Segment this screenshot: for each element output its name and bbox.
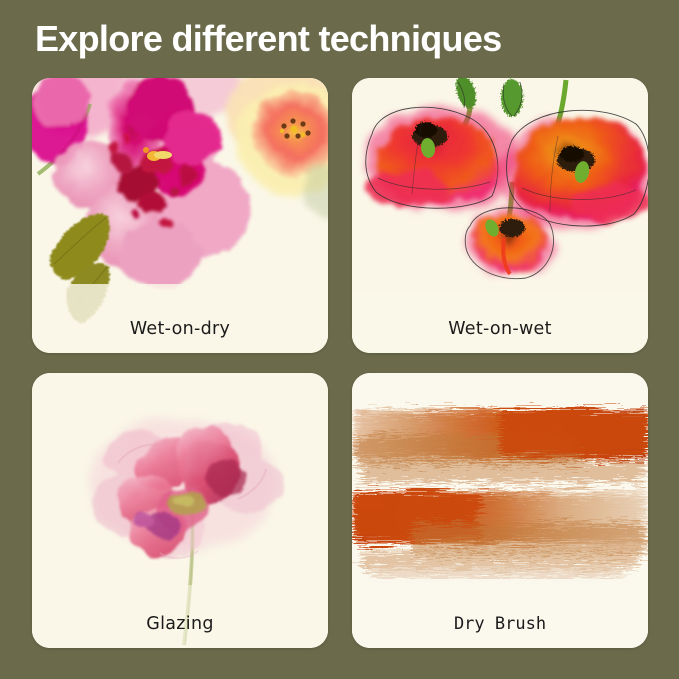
technique-card-grid: Wet-on-dry [32, 78, 648, 648]
technique-card-label: Wet-on-wet [352, 319, 648, 339]
technique-card-label: Glazing [32, 614, 328, 634]
glazing-artwork [32, 373, 328, 648]
wet-on-dry-artwork [32, 78, 328, 353]
dry-brush-artwork [352, 373, 648, 648]
technique-card-label: Dry Brush [352, 614, 648, 634]
wet-on-wet-artwork [352, 78, 648, 353]
technique-card-label: Wet-on-dry [32, 319, 328, 339]
technique-card-wet-on-dry[interactable]: Wet-on-dry [32, 78, 328, 353]
technique-card-glazing[interactable]: Glazing [32, 373, 328, 648]
page-title: Explore different techniques [35, 19, 502, 59]
technique-card-dry-brush[interactable]: Dry Brush [352, 373, 648, 648]
technique-card-wet-on-wet[interactable]: Wet-on-wet [352, 78, 648, 353]
